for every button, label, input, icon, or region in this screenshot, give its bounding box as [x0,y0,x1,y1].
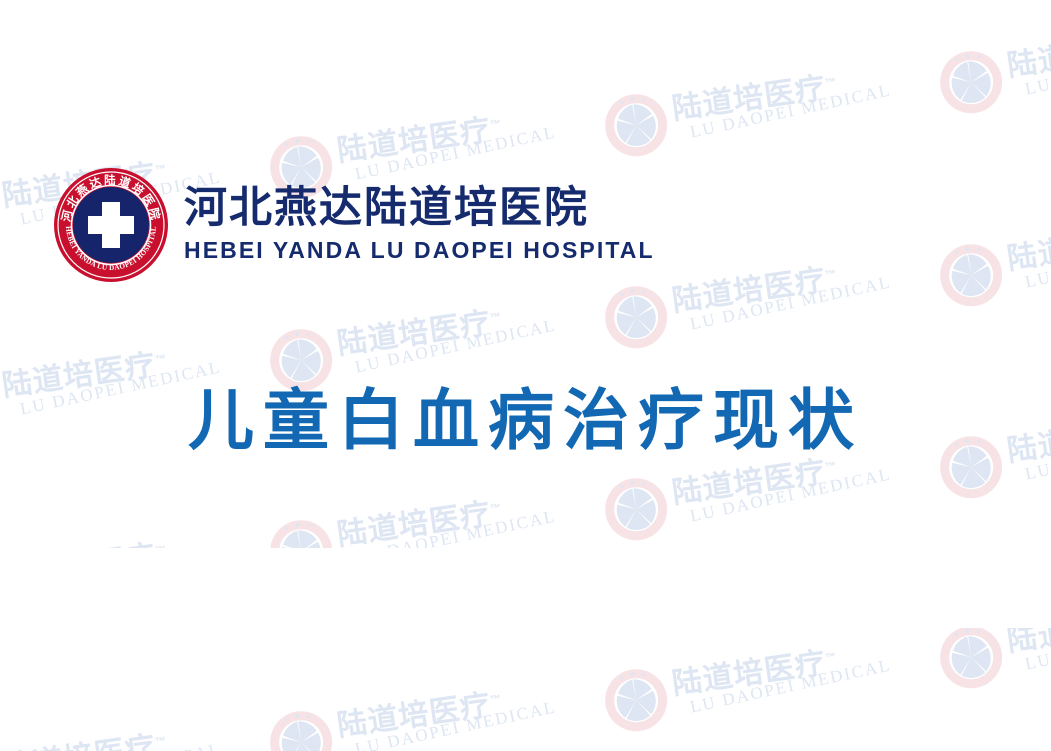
hospital-name-cn: 河北燕达陆道培医院 [184,186,655,231]
content-occlusion-mask [0,548,694,628]
hospital-logo-lockup: 河北燕达陆道培医院 HEBEI YANDA LU DAOPEI HOSPITAL… [52,166,655,284]
presentation-slide: 陆道培医疗™ LU DAOPEI MEDICAL [0,0,1051,751]
content-occlusion-mask [712,548,1051,628]
slide-content: 河北燕达陆道培医院 HEBEI YANDA LU DAOPEI HOSPITAL… [0,0,1051,751]
hospital-emblem-icon: 河北燕达陆道培医院 HEBEI YANDA LU DAOPEI HOSPITAL [52,166,170,284]
hospital-name-en: HEBEI YANDA LU DAOPEI HOSPITAL [184,237,655,265]
page-title: 儿童白血病治疗现状 [0,386,1051,455]
hospital-name-block: 河北燕达陆道培医院 HEBEI YANDA LU DAOPEI HOSPITAL [184,186,655,265]
